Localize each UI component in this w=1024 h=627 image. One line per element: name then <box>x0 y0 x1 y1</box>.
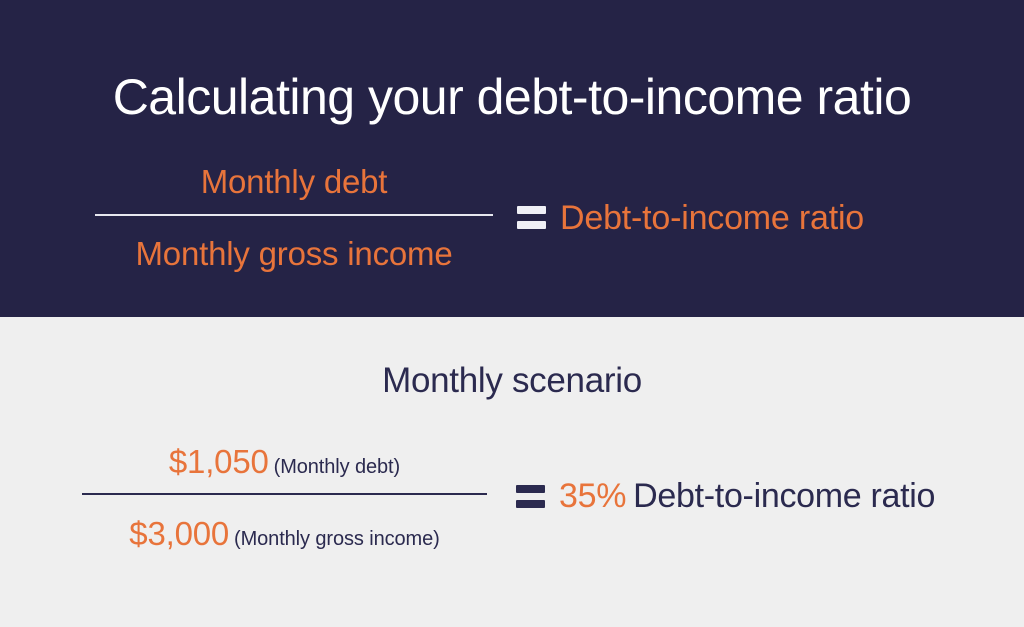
fraction-numerator-label: Monthly debt <box>95 162 493 202</box>
generic-fraction: Monthly debt Monthly gross income <box>95 158 493 278</box>
light-panel: Monthly scenario $1,050(Monthly debt) $3… <box>0 317 1024 627</box>
page-title: Calculating your debt-to-income ratio <box>0 66 1024 128</box>
fraction-bar <box>95 214 493 216</box>
generic-formula-result-label: Debt-to-income ratio <box>560 197 864 239</box>
section-subtitle: Monthly scenario <box>0 359 1024 403</box>
fraction-denominator-label: Monthly gross income <box>95 234 493 274</box>
example-fraction-bar <box>82 493 487 495</box>
equals-icon-example <box>516 485 545 508</box>
example-denominator: $3,000(Monthly gross income) <box>82 514 487 561</box>
equals-icon <box>517 206 546 229</box>
monthly-income-note: (Monthly gross income) <box>234 528 440 550</box>
monthly-income-amount: $3,000 <box>129 515 229 552</box>
monthly-debt-note: (Monthly debt) <box>274 456 400 478</box>
dti-percent-value: 35% <box>559 477 626 515</box>
dti-result-label: Debt-to-income ratio <box>633 477 935 515</box>
dark-panel: Calculating your debt-to-income ratio Mo… <box>0 0 1024 317</box>
monthly-debt-amount: $1,050 <box>169 443 269 480</box>
example-numerator: $1,050(Monthly debt) <box>82 442 487 489</box>
infographic-canvas: Calculating your debt-to-income ratio Mo… <box>0 0 1024 627</box>
example-result: 35%Debt-to-income ratio <box>559 474 935 518</box>
generic-formula: Monthly debt Monthly gross income <box>0 158 1024 278</box>
example-fraction: $1,050(Monthly debt) $3,000(Monthly gros… <box>82 435 487 555</box>
